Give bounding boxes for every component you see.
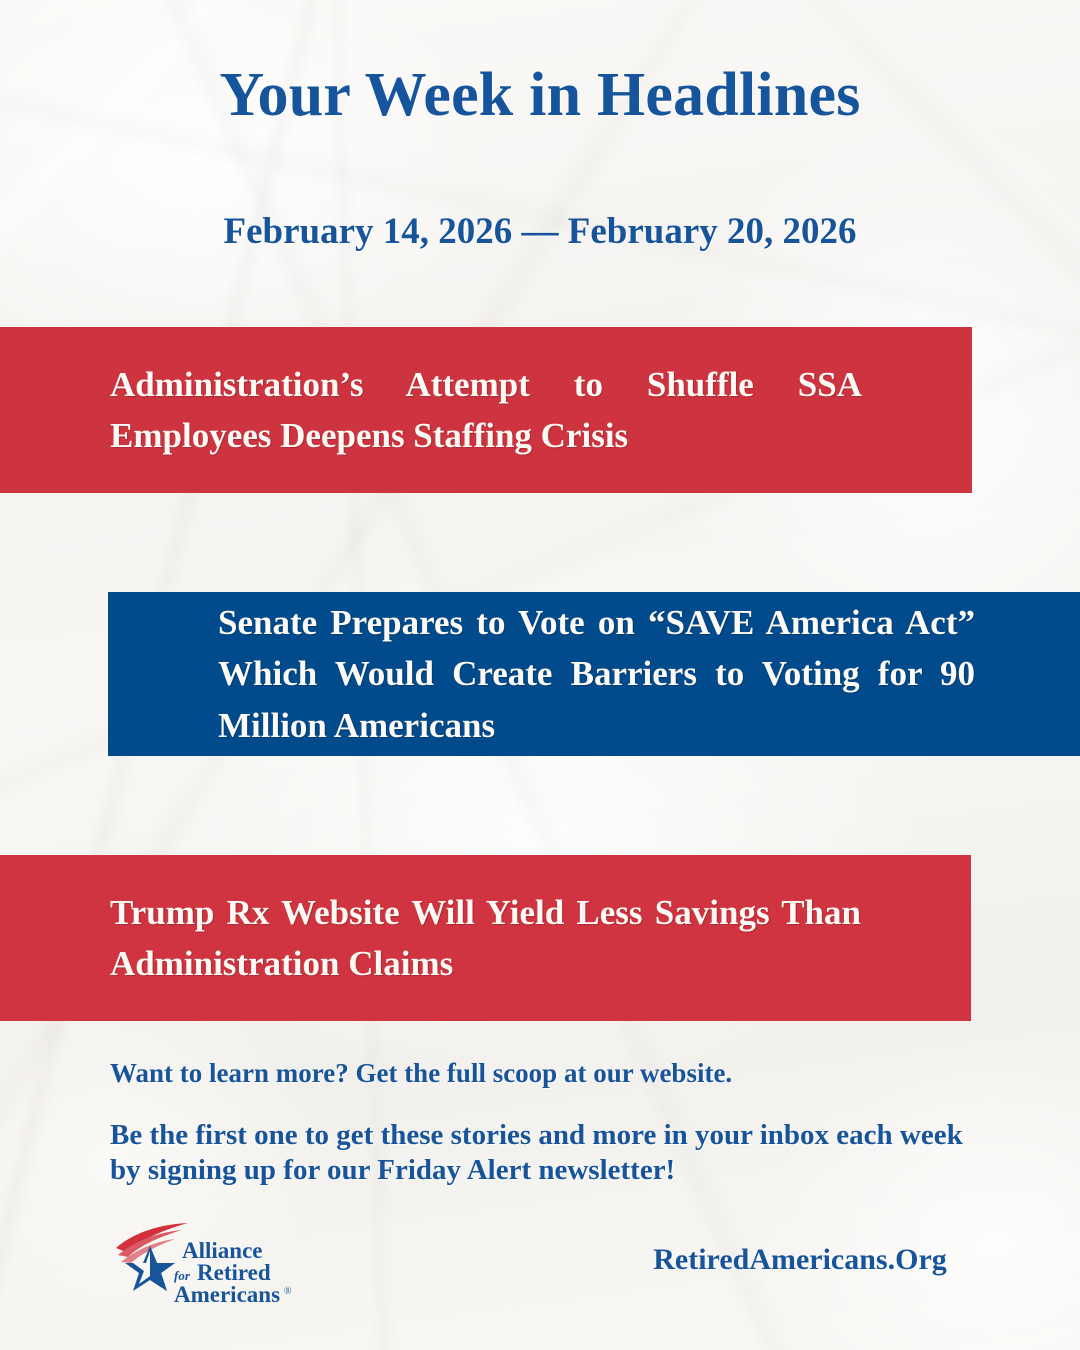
logo-line-3: Americans xyxy=(174,1282,280,1307)
logo-line-2-small: for xyxy=(174,1268,191,1283)
newsletter-graphic: Your Week in Headlines February 14, 2026… xyxy=(0,0,1080,1350)
website-url[interactable]: RetiredAmericans.Org xyxy=(600,1243,1000,1277)
logo-artwork: Alliance for Retired Americans ® xyxy=(112,1222,292,1314)
headline-bar-3[interactable]: Trump Rx Website Will Yield Less Savings… xyxy=(0,855,971,1021)
headline-text-2: Senate Prepares to Vote on “SAVE America… xyxy=(218,597,975,750)
date-range-subtitle: February 14, 2026 — February 20, 2026 xyxy=(0,212,1080,253)
headline-text-3: Trump Rx Website Will Yield Less Savings… xyxy=(110,887,861,989)
headline-bar-1[interactable]: Administration’s Attempt to Shuffle SSA … xyxy=(0,327,972,493)
page-title: Your Week in Headlines xyxy=(0,62,1080,129)
newsletter-signup-text: Be the first one to get these stories an… xyxy=(110,1118,994,1189)
headline-bar-2[interactable]: Senate Prepares to Vote on “SAVE America… xyxy=(108,592,1080,756)
headline-text-1: Administration’s Attempt to Shuffle SSA … xyxy=(110,359,862,461)
alliance-for-retired-americans-logo[interactable]: Alliance for Retired Americans ® xyxy=(112,1222,292,1314)
logo-registered-mark: ® xyxy=(284,1286,292,1297)
learn-more-text: Want to learn more? Get the full scoop a… xyxy=(110,1057,990,1091)
